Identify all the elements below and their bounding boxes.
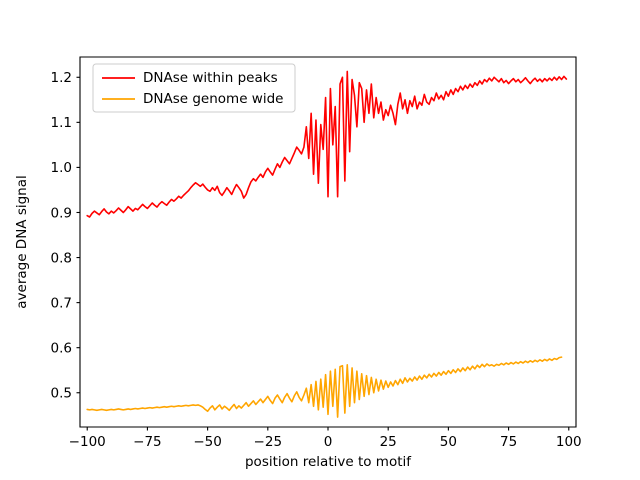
x-tick-label: −25	[254, 434, 283, 450]
y-tick-label: 0.8	[51, 250, 72, 266]
y-axis-title: average DNA signal	[14, 175, 30, 309]
series-line-genome-wide	[87, 357, 561, 417]
legend-label-0: DNAse within peaks	[143, 70, 278, 86]
x-axis-title: position relative to motif	[245, 454, 412, 470]
x-tick-label: 0	[324, 434, 333, 450]
y-tick-label: 1.2	[51, 70, 72, 86]
x-tick-label: 75	[500, 434, 517, 450]
figure-canvas: 0.50.60.70.80.91.01.11.2−100−75−50−25025…	[0, 0, 640, 480]
x-tick-label: 50	[440, 434, 457, 450]
chart-plot: 0.50.60.70.80.91.01.11.2−100−75−50−25025…	[0, 0, 640, 480]
x-tick-label: −50	[193, 434, 222, 450]
x-tick-label: 25	[380, 434, 397, 450]
x-tick-label: 100	[556, 434, 582, 450]
legend-label-1: DNAse genome wide	[143, 91, 283, 107]
y-tick-label: 1.0	[51, 160, 72, 176]
y-tick-label: 0.7	[51, 295, 72, 311]
y-tick-label: 0.6	[51, 340, 72, 356]
y-tick-label: 0.9	[51, 205, 72, 221]
y-tick-label: 0.5	[51, 386, 72, 402]
x-tick-label: −75	[133, 434, 162, 450]
y-tick-label: 1.1	[51, 115, 72, 131]
x-tick-label: −100	[69, 434, 106, 450]
